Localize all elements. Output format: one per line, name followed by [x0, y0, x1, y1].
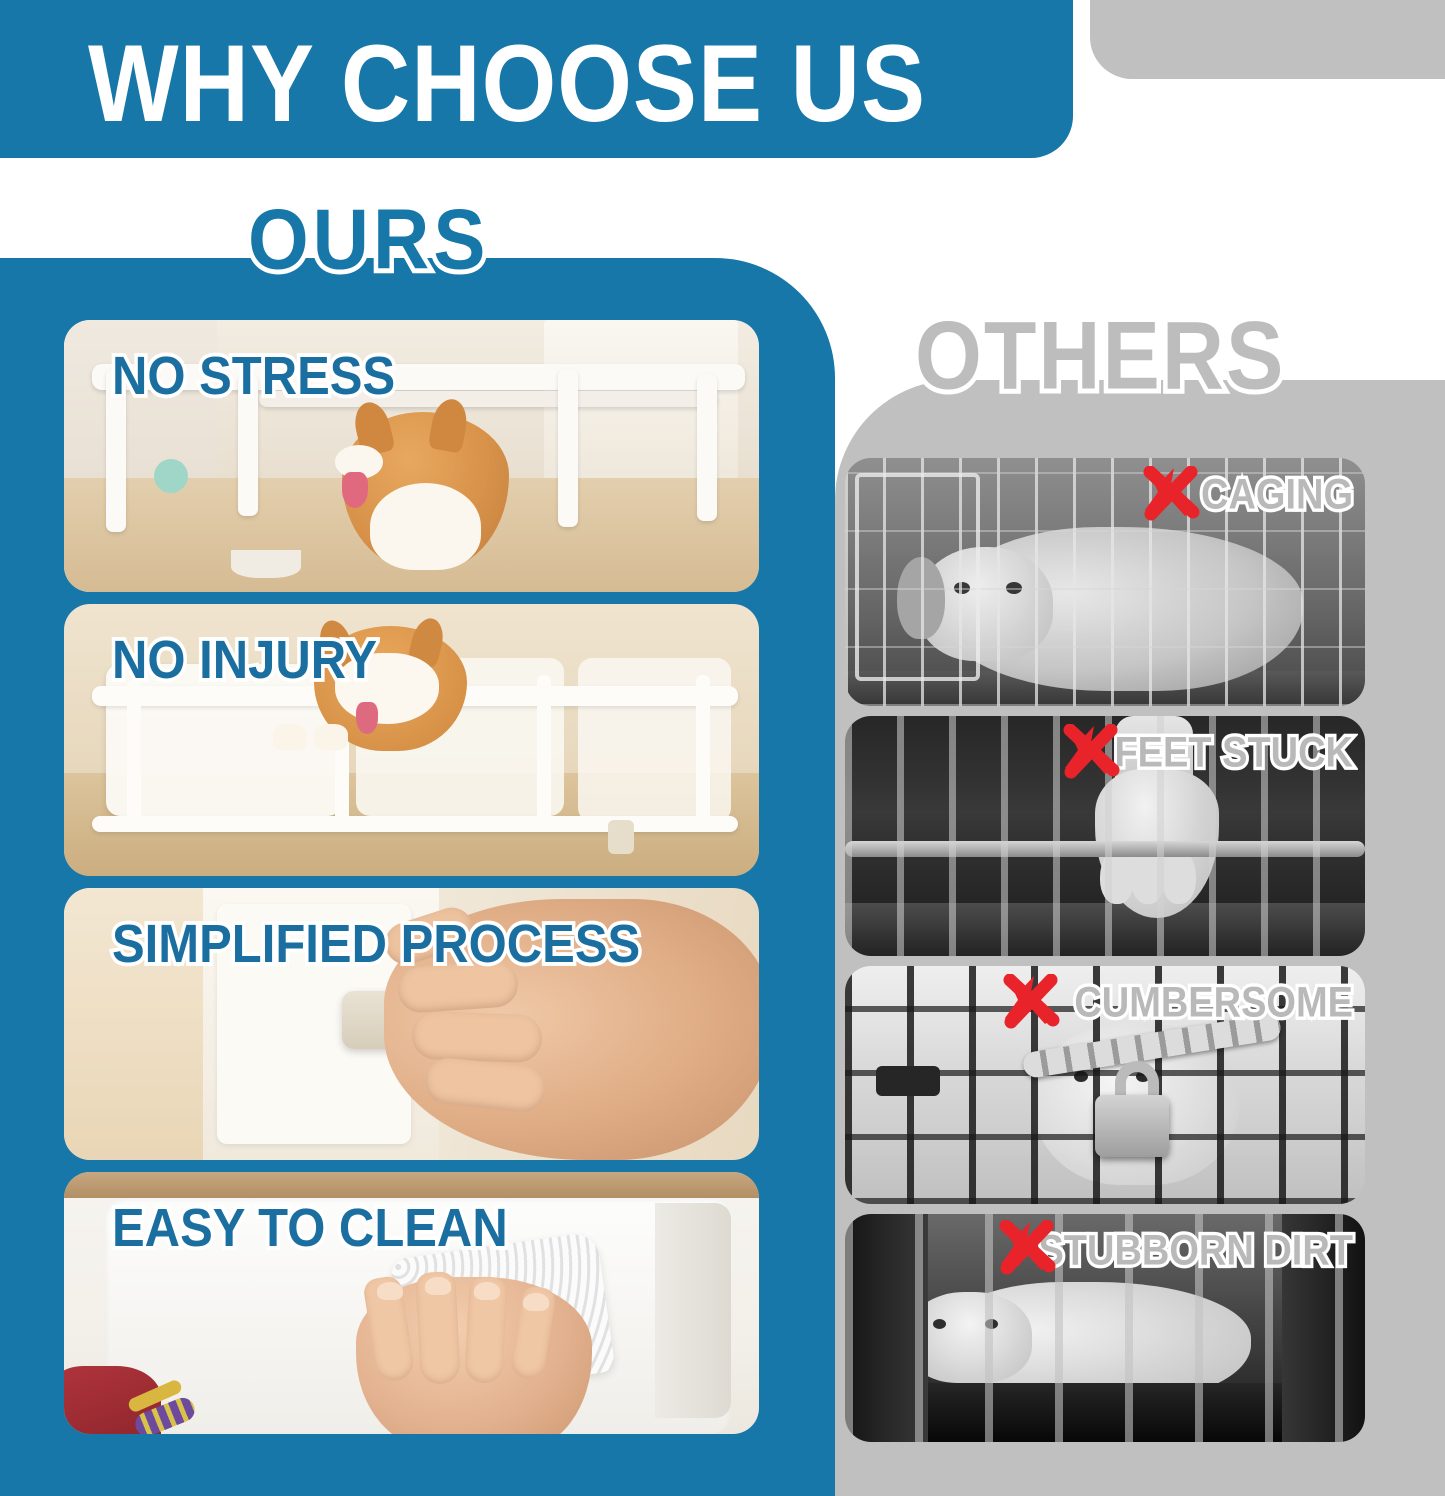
- others-heading: OTHERS: [915, 308, 1285, 404]
- others-card-stubborn-dirt: STUBBORN DIRT: [845, 1214, 1365, 1442]
- others-card-caging: CAGING: [845, 458, 1365, 706]
- ours-card-no-injury: NO INJURY: [64, 604, 759, 876]
- ours-heading: OURS: [248, 196, 489, 282]
- others-card-label: FEET STUCK: [1114, 732, 1353, 775]
- others-card-cumbersome: CUMBERSOME: [845, 966, 1365, 1204]
- red-x-mark: [1061, 724, 1123, 782]
- others-card-label: CUMBERSOME: [1074, 982, 1353, 1025]
- ours-card-label: NO INJURY: [112, 634, 377, 688]
- why-choose-us-infographic: WHY CHOOSE US OURS OTHERS NO STRESS NO I…: [0, 0, 1445, 1496]
- ours-card-simplified-process: SIMPLIFIED PROCESS: [64, 888, 759, 1160]
- red-x-mark: [997, 1220, 1059, 1278]
- page-title: WHY CHOOSE US: [88, 30, 926, 139]
- red-x-mark: [1141, 466, 1203, 524]
- ours-card-label: EASY TO CLEAN: [112, 1202, 508, 1256]
- gray-top-bar: [1090, 0, 1445, 79]
- ours-card-label: SIMPLIFIED PROCESS: [112, 918, 640, 972]
- ours-card-no-stress: NO STRESS: [64, 320, 759, 592]
- others-card-label: STUBBORN DIRT: [1038, 1230, 1353, 1273]
- others-card-label: CAGING: [1201, 474, 1353, 517]
- red-x-mark: [1001, 974, 1063, 1032]
- ours-card-easy-to-clean: EASY TO CLEAN: [64, 1172, 759, 1434]
- ours-card-label: NO STRESS: [112, 350, 395, 404]
- others-card-feet-stuck: FEET STUCK: [845, 716, 1365, 956]
